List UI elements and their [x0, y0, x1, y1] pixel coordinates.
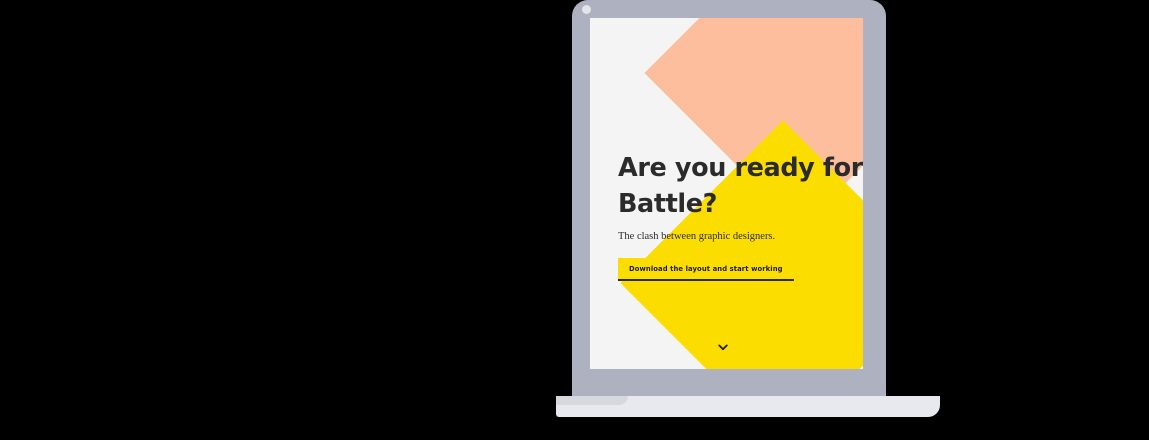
browser-viewport: Are you ready for theBattle? The clash b…: [590, 18, 863, 369]
hero-heading-line-2: Battle?: [618, 189, 717, 219]
hero-heading-line-1: Are you ready for the: [618, 153, 863, 183]
laptop-base-notch: [556, 396, 628, 405]
laptop-mockup: Are you ready for theBattle? The clash b…: [556, 0, 956, 420]
hero-heading: Are you ready for theBattle?: [618, 150, 863, 222]
chevron-down-icon[interactable]: [716, 340, 730, 354]
hero-subtitle: The clash between graphic designers.: [618, 230, 863, 244]
hero-section: Are you ready for theBattle? The clash b…: [618, 150, 863, 281]
laptop-lid-bottom-bar: [572, 381, 886, 396]
download-layout-button[interactable]: Download the layout and start working: [618, 258, 794, 281]
scene-canvas: Are you ready for theBattle? The clash b…: [0, 0, 1149, 440]
laptop-lid: Are you ready for theBattle? The clash b…: [572, 0, 886, 381]
webcam-icon: [582, 5, 591, 14]
